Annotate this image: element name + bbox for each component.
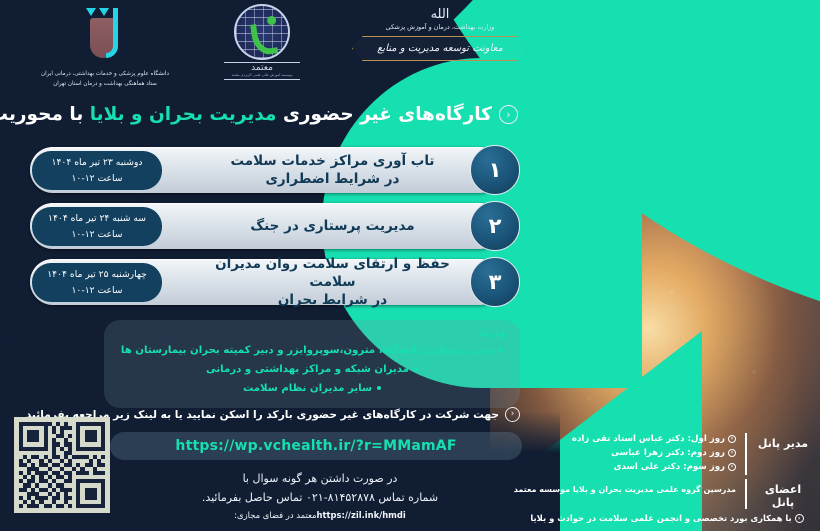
iran-emblem-icon: الله xyxy=(340,8,540,21)
collaboration-note: ‹با همکاری بورد تخصصی و انجمن علمی سلامت… xyxy=(522,513,812,523)
workshop-date-badge: چهارشنبه ۲۵ تیر ماه ۱۴۰۴ ساعت ۱۲-۱۰ xyxy=(32,263,162,302)
workshop-time: ساعت ۱۲-۱۰ xyxy=(72,227,123,243)
panel-manager-text: روز سوم: دکتر علی اسدی xyxy=(614,462,725,472)
bullet-icon xyxy=(414,367,418,371)
panel-manager-item: ‹روز اول: دکتر عباس استاد تقی زاده xyxy=(522,433,736,447)
workshop-title-line2: در شرایط اضطراری xyxy=(231,170,435,188)
logo-iums-line2: ستاد هماهنگی بهداشت و درمان استان تهران xyxy=(30,80,180,90)
workshop-row-3[interactable]: ۳ حفظ و ارتقای سلامت روان مدیران سلامت د… xyxy=(30,257,520,307)
audience-item: سایر مدیران نظام سلامت xyxy=(118,380,506,399)
audience-item-text: مدیران شبکه و مراکز بهداشتی و درمانی xyxy=(206,364,409,375)
registration-link-pill[interactable]: https://wp.vchealth.ir/?r=MMamAF xyxy=(110,432,522,460)
panel-members-block: اعضای پانل مدرسین گروه علمی مدیریت بحران… xyxy=(522,479,812,509)
title-highlight: مدیریت بحران و بلایا xyxy=(90,104,277,125)
workshop-list: ۱ تاب آوری مراکز خدمات سلامت در شرایط اض… xyxy=(30,145,520,313)
registration-link[interactable]: https://wp.vchealth.ir/?r=MMamAF xyxy=(175,438,456,454)
bullet-icon xyxy=(377,386,381,390)
divider xyxy=(745,433,747,475)
panel-info: مدیر پانل ‹روز اول: دکتر عباس استاد تقی … xyxy=(522,433,812,523)
poster-title: ‹ کارگاه‌های غیر حضوری مدیریت بحران و بل… xyxy=(12,104,518,125)
workshop-date: دوشنبه ۲۳ تیر ماه ۱۴۰۴ xyxy=(52,155,143,171)
workshop-date: چهارشنبه ۲۵ تیر ماه ۱۴۰۴ xyxy=(47,267,147,283)
workshop-time: ساعت ۱۲-۱۰ xyxy=(72,171,123,187)
workshop-title: مدیریت پرستاری در جنگ xyxy=(205,201,460,251)
social-label: معتمد در فضای مجازی: xyxy=(234,510,316,520)
workshop-title-line1: حفظ و ارتقای سلامت روان مدیران سلامت xyxy=(205,255,460,291)
panel-manager-item: ‹روز دوم: دکتر زهرا عباسی xyxy=(522,447,736,461)
qr-code-matrix xyxy=(19,422,105,508)
divider xyxy=(745,479,747,509)
workshop-date-badge: سه شنبه ۲۴ تیر ماه ۱۴۰۴ ساعت ۱۲-۱۰ xyxy=(32,207,162,246)
panel-members-label: اعضای پانل xyxy=(754,479,812,509)
workshop-date-badge: دوشنبه ۲۳ تیر ماه ۱۴۰۴ ساعت ۱۲-۱۰ xyxy=(32,151,162,190)
audience-item-text: مدیر پرستاری دانشگاه، مترون،سوپروایزر و … xyxy=(121,345,494,356)
audience-panel: ویژه: مدیر پرستاری دانشگاه، مترون،سوپروا… xyxy=(104,320,520,408)
workshop-title: حفظ و ارتقای سلامت روان مدیران سلامت در … xyxy=(205,257,460,307)
panel-manager-text: روز اول: دکتر عباس استاد تقی زاده xyxy=(572,434,725,444)
ministry-ornament-frame: معاونت توسعه مدیریت و منابع xyxy=(352,36,528,61)
social-url[interactable]: https://zil.ink/hmdi xyxy=(317,508,406,524)
audience-list: مدیر پرستاری دانشگاه، مترون،سوپروایزر و … xyxy=(118,342,506,399)
workshop-row-1[interactable]: ۱ تاب آوری مراکز خدمات سلامت در شرایط اض… xyxy=(30,145,520,195)
panel-manager-item: ‹روز سوم: دکتر علی اسدی xyxy=(522,461,736,475)
logo-iums-line1: دانشگاه علوم پزشکی و خدمات بهداشتی، درما… xyxy=(30,70,180,80)
logo-ministry-line1: وزارت بهداشت، درمان و آموزش پزشکی xyxy=(340,23,540,31)
audience-heading: ویژه: xyxy=(118,327,506,339)
audience-item: مدیر پرستاری دانشگاه، مترون،سوپروایزر و … xyxy=(118,342,506,361)
contact-line1: در صورت داشتن هر گونه سوال با xyxy=(120,470,520,489)
workshop-title-line2: در شرایط بحران xyxy=(205,291,460,309)
audience-item: مدیران شبکه و مراکز بهداشتی و درمانی xyxy=(118,361,506,380)
panel-managers-block: مدیر پانل ‹روز اول: دکتر عباس استاد تقی … xyxy=(522,433,812,475)
chevron-left-icon: ‹ xyxy=(505,407,520,422)
poster-canvas: دانشگاه علوم پزشکی و خدمات بهداشتی، درما… xyxy=(0,0,820,531)
workshop-title-line1: مدیریت پرستاری در جنگ xyxy=(250,217,414,235)
title-suffix: با محوریت xyxy=(0,104,83,125)
panel-manager-label: مدیر پانل xyxy=(754,433,812,450)
poster-title-text: کارگاه‌های غیر حضوری مدیریت بحران و بلای… xyxy=(0,104,492,125)
workshop-number-badge: ۱ xyxy=(470,145,520,195)
chevron-left-icon: ‹ xyxy=(728,449,736,457)
title-prefix: کارگاه‌های غیر حضوری xyxy=(283,104,492,125)
social-line: https://zil.ink/hmdiمعتمد در فضای مجازی: xyxy=(120,508,520,524)
panel-manager-text: روز دوم: دکتر زهرا عباسی xyxy=(611,448,725,458)
panel-manager-list: ‹روز اول: دکتر عباس استاد تقی زاده ‹روز … xyxy=(522,433,736,475)
logo-ministry: الله وزارت بهداشت، درمان و آموزش پزشکی م… xyxy=(340,8,540,61)
iums-emblem-icon xyxy=(78,6,132,66)
logo-ministry-line2: معاونت توسعه مدیریت و منابع xyxy=(357,43,523,54)
logo-motamed-subtitle: موسسه آموزش عالی علمی کاربردی معتمد xyxy=(224,73,300,78)
workshop-title-line1: تاب آوری مراکز خدمات سلامت xyxy=(231,152,435,170)
workshop-number-badge: ۳ xyxy=(470,257,520,307)
panel-members-text: مدرسین گروه علمی مدیریت بحران و بلایا مو… xyxy=(514,479,736,497)
logo-motamed: معتمد موسسه آموزش عالی علمی کاربردی معتم… xyxy=(212,4,312,80)
registration-instruction: ‹ جهت شرکت در کارگاه‌های غیر حضوری بارکد… xyxy=(110,407,520,422)
contact-line2: شماره تماس ۸۱۴۵۲۸۷۸-۰۲۱ تماس حاصل بفرمائ… xyxy=(120,489,520,508)
logo-iums: دانشگاه علوم پزشکی و خدمات بهداشتی، درما… xyxy=(30,6,180,90)
chevron-left-icon: ‹ xyxy=(499,105,518,124)
globe-person-icon xyxy=(234,4,290,60)
chevron-left-icon: ‹ xyxy=(728,435,736,443)
workshop-time: ساعت ۱۲-۱۰ xyxy=(72,283,123,299)
contact-block: در صورت داشتن هر گونه سوال با شماره تماس… xyxy=(120,470,520,524)
workshop-date: سه شنبه ۲۴ تیر ماه ۱۴۰۴ xyxy=(48,211,146,227)
bullet-icon xyxy=(499,348,503,352)
audience-item-text: سایر مدیران نظام سلامت xyxy=(243,383,372,394)
logo-motamed-name: معتمد xyxy=(224,64,300,73)
panel-members-list: مدرسین گروه علمی مدیریت بحران و بلایا مو… xyxy=(514,479,736,497)
collaboration-note-text: با همکاری بورد تخصصی و انجمن علمی سلامت … xyxy=(530,513,791,523)
workshop-number-badge: ۲ xyxy=(470,201,520,251)
chevron-left-icon: ‹ xyxy=(795,514,804,523)
qr-code[interactable] xyxy=(14,417,110,513)
header-logos: دانشگاه علوم پزشکی و خدمات بهداشتی، درما… xyxy=(0,0,560,100)
workshop-title: تاب آوری مراکز خدمات سلامت در شرایط اضطر… xyxy=(205,145,460,195)
chevron-left-icon: ‹ xyxy=(728,463,736,471)
workshop-row-2[interactable]: ۲ مدیریت پرستاری در جنگ سه شنبه ۲۴ تیر م… xyxy=(30,201,520,251)
